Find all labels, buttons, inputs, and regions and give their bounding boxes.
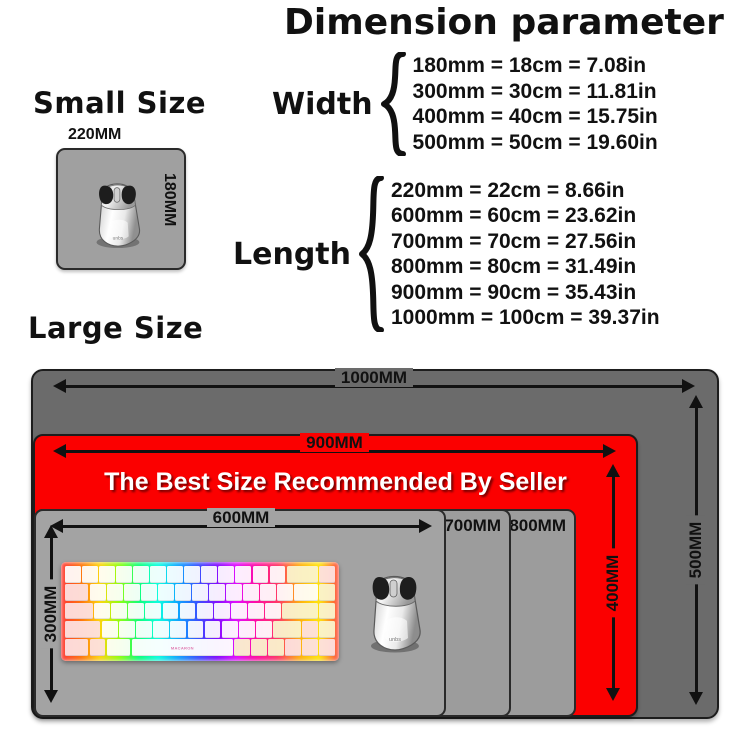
arrow-down-icon <box>44 690 58 703</box>
spec-label-width: Width <box>272 87 373 122</box>
spec-row: 220mm = 22cm = 8.66in <box>391 178 660 204</box>
key <box>234 639 250 656</box>
key <box>150 566 166 583</box>
key <box>65 566 81 583</box>
key <box>153 621 169 638</box>
recommended-banner-text: The Best Size Recommended By Seller <box>35 468 636 497</box>
spec-row: 300mm = 30cm = 11.81in <box>413 79 658 105</box>
key <box>319 603 335 620</box>
key <box>141 584 157 601</box>
key <box>319 566 335 583</box>
key <box>287 566 318 583</box>
keyboard-row <box>65 566 335 583</box>
key <box>243 584 259 601</box>
measure-500mm: 500MM <box>689 395 703 705</box>
measure-600mm-label: 600MM <box>207 508 276 527</box>
measure-300mm: 300MM <box>44 525 58 703</box>
spec-row: 500mm = 50cm = 19.60in <box>413 130 658 156</box>
key <box>111 603 127 620</box>
spec-rows-width: 180mm = 18cm = 7.08in 300mm = 30cm = 11.… <box>413 53 658 155</box>
measure-300mm-label: 300MM <box>41 580 60 649</box>
keyboard-image <box>61 562 339 661</box>
key <box>222 621 238 638</box>
key <box>268 639 284 656</box>
key <box>265 603 281 620</box>
key <box>167 566 183 583</box>
keyboard-row <box>65 639 335 656</box>
panel-800mm-label: 800MM <box>509 516 566 536</box>
spec-row: 900mm = 90cm = 35.43in <box>391 280 660 306</box>
key <box>253 566 269 583</box>
small-size-heading: Small Size <box>33 86 206 120</box>
key <box>133 566 149 583</box>
key <box>319 639 335 656</box>
key <box>65 639 88 656</box>
measure-400mm-label: 400MM <box>603 548 622 617</box>
keyboard-keys <box>65 566 335 656</box>
key <box>201 566 217 583</box>
spec-row: 600mm = 60cm = 23.62in <box>391 203 660 229</box>
key <box>294 584 317 601</box>
large-size-heading: Large Size <box>28 311 203 345</box>
key <box>124 584 140 601</box>
measure-900mm: 900MM <box>53 444 616 458</box>
key <box>218 566 234 583</box>
key <box>214 603 230 620</box>
key <box>184 566 200 583</box>
key <box>209 584 225 601</box>
keyboard-row <box>65 603 335 620</box>
key <box>65 584 88 601</box>
measure-1000mm: 1000MM <box>53 379 695 393</box>
key <box>302 621 318 638</box>
key <box>248 603 264 620</box>
measure-400mm: 400MM <box>606 464 620 701</box>
key <box>302 639 318 656</box>
key <box>107 639 130 656</box>
measure-1000mm-label: 1000MM <box>335 368 413 387</box>
key <box>270 566 286 583</box>
key <box>119 621 135 638</box>
key <box>170 621 186 638</box>
measure-900mm-label: 900MM <box>300 433 369 452</box>
key <box>116 566 132 583</box>
svg-text:unbs: unbs <box>113 235 124 241</box>
arrow-down-icon <box>689 692 703 705</box>
key <box>319 621 335 638</box>
key <box>99 566 115 583</box>
key <box>192 584 208 601</box>
keyboard-row <box>65 584 335 601</box>
key <box>65 621 100 638</box>
curly-brace-icon <box>381 52 407 156</box>
key <box>90 584 106 601</box>
curly-brace-icon <box>359 176 385 332</box>
key <box>251 639 267 656</box>
measure-500mm-label: 500MM <box>686 516 705 585</box>
key <box>205 621 221 638</box>
key <box>90 639 106 656</box>
key <box>260 584 276 601</box>
spec-row: 800mm = 80cm = 31.49in <box>391 254 660 280</box>
spec-row: 700mm = 70cm = 27.56in <box>391 229 660 255</box>
key <box>256 621 272 638</box>
key <box>277 584 293 601</box>
small-height-label: 180MM <box>160 173 178 226</box>
key <box>94 603 110 620</box>
key <box>107 584 123 601</box>
key <box>145 603 161 620</box>
key <box>188 621 204 638</box>
svg-text:unbs: unbs <box>389 637 401 643</box>
spec-row: 1000mm = 100cm = 39.37in <box>391 305 660 331</box>
key <box>180 603 196 620</box>
key <box>158 584 174 601</box>
key <box>226 584 242 601</box>
key <box>102 621 118 638</box>
spec-row: 400mm = 40cm = 15.75in <box>413 104 658 130</box>
measure-600mm: 600MM <box>50 519 432 533</box>
key <box>136 621 152 638</box>
spec-row: 180mm = 18cm = 7.08in <box>413 53 658 79</box>
keyboard-row <box>65 621 335 638</box>
spec-rows-length: 220mm = 22cm = 8.66in 600mm = 60cm = 23.… <box>391 178 660 331</box>
key <box>239 621 255 638</box>
mouse-icon: unbs <box>360 563 426 655</box>
key <box>235 566 251 583</box>
spec-label-length: Length <box>233 237 351 272</box>
spec-group-width: Width 180mm = 18cm = 7.08in 300mm = 30cm… <box>272 52 658 156</box>
key-spacebar <box>132 639 233 656</box>
key <box>175 584 191 601</box>
key <box>128 603 144 620</box>
panel-700mm-label: 700MM <box>444 516 501 536</box>
key <box>282 603 317 620</box>
key <box>231 603 247 620</box>
mouse-icon: unbs <box>86 172 146 250</box>
arrow-down-icon <box>606 688 620 701</box>
page-title: Dimension parameter <box>284 2 724 43</box>
small-width-label: 220MM <box>68 126 121 144</box>
key <box>273 621 301 638</box>
key <box>319 584 335 601</box>
key <box>285 639 301 656</box>
key <box>197 603 213 620</box>
key <box>82 566 98 583</box>
spec-group-length: Length 220mm = 22cm = 8.66in 600mm = 60c… <box>233 176 660 332</box>
key <box>65 603 93 620</box>
key <box>163 603 179 620</box>
